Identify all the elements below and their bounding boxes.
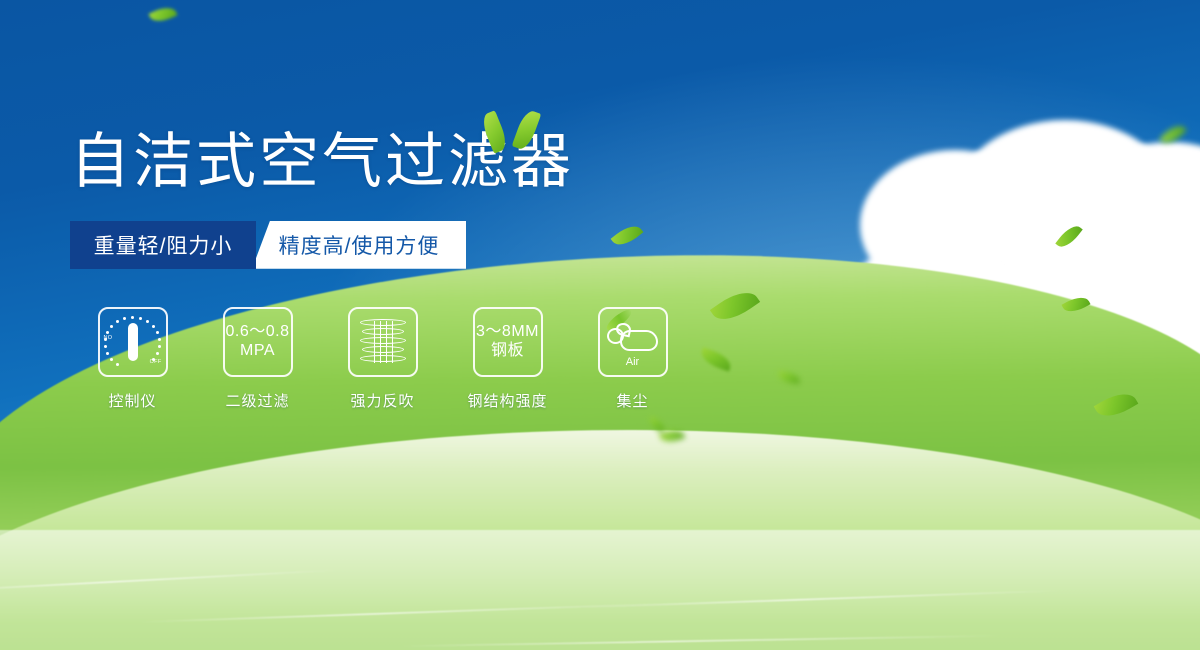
feature-icon-box: NO OFF: [98, 307, 168, 377]
feature-item-blowback[interactable]: 强力反吹: [320, 307, 445, 411]
filter-stack-icon: [359, 317, 407, 367]
steel-value-line2: 钢板: [491, 342, 524, 360]
feature-item-control[interactable]: NO OFF 控制仪: [70, 307, 195, 411]
page-title: 自洁式空气过滤器: [70, 130, 710, 195]
feature-icon-box: 3～8MM 钢板: [473, 307, 543, 377]
banner-content: 自洁式空气过滤器 重量轻/阻力小 精度高/使用方便: [70, 130, 710, 411]
feature-caption: 二级过滤: [225, 390, 289, 411]
tagline-secondary: 精度高/使用方便: [252, 221, 466, 269]
pressure-value-line2: MPA: [240, 342, 275, 360]
tagline-bar: 重量轻/阻力小 精度高/使用方便: [70, 221, 466, 269]
feature-caption: 强力反吹: [350, 390, 414, 411]
feature-caption: 集尘: [616, 390, 648, 411]
feature-icon-box: 0.6～0.8 MPA: [223, 307, 293, 377]
feature-item-steel[interactable]: 3～8MM 钢板 钢结构强度: [445, 307, 570, 411]
control-dial-icon: NO OFF: [105, 314, 161, 370]
feature-caption: 控制仪: [108, 390, 156, 411]
dial-label-on: NO: [104, 335, 113, 341]
cloud-air-icon: Air: [606, 319, 660, 365]
feature-caption: 钢结构强度: [467, 390, 547, 411]
steel-value-line1: 3～8MM: [476, 323, 539, 341]
air-label: Air: [606, 356, 660, 368]
dial-label-off: OFF: [150, 359, 162, 365]
feature-item-dust[interactable]: Air 集尘: [570, 307, 695, 411]
floating-leaf: [148, 3, 177, 25]
cloud-puff-main: [620, 330, 658, 351]
pressure-value-line1: 0.6～0.8: [226, 323, 290, 341]
promotional-banner: 自洁式空气过滤器 重量轻/阻力小 精度高/使用方便: [0, 0, 1200, 650]
tagline-primary: 重量轻/阻力小: [70, 221, 256, 269]
feature-item-pressure[interactable]: 0.6～0.8 MPA 二级过滤: [195, 307, 320, 411]
sprout-leaves-icon: [478, 106, 548, 152]
feature-icon-box: Air: [598, 307, 668, 377]
feature-list: NO OFF 控制仪 0.6～0.8 MPA 二级过滤: [70, 307, 710, 411]
feature-icon-box: [348, 307, 418, 377]
dial-needle: [128, 323, 138, 361]
